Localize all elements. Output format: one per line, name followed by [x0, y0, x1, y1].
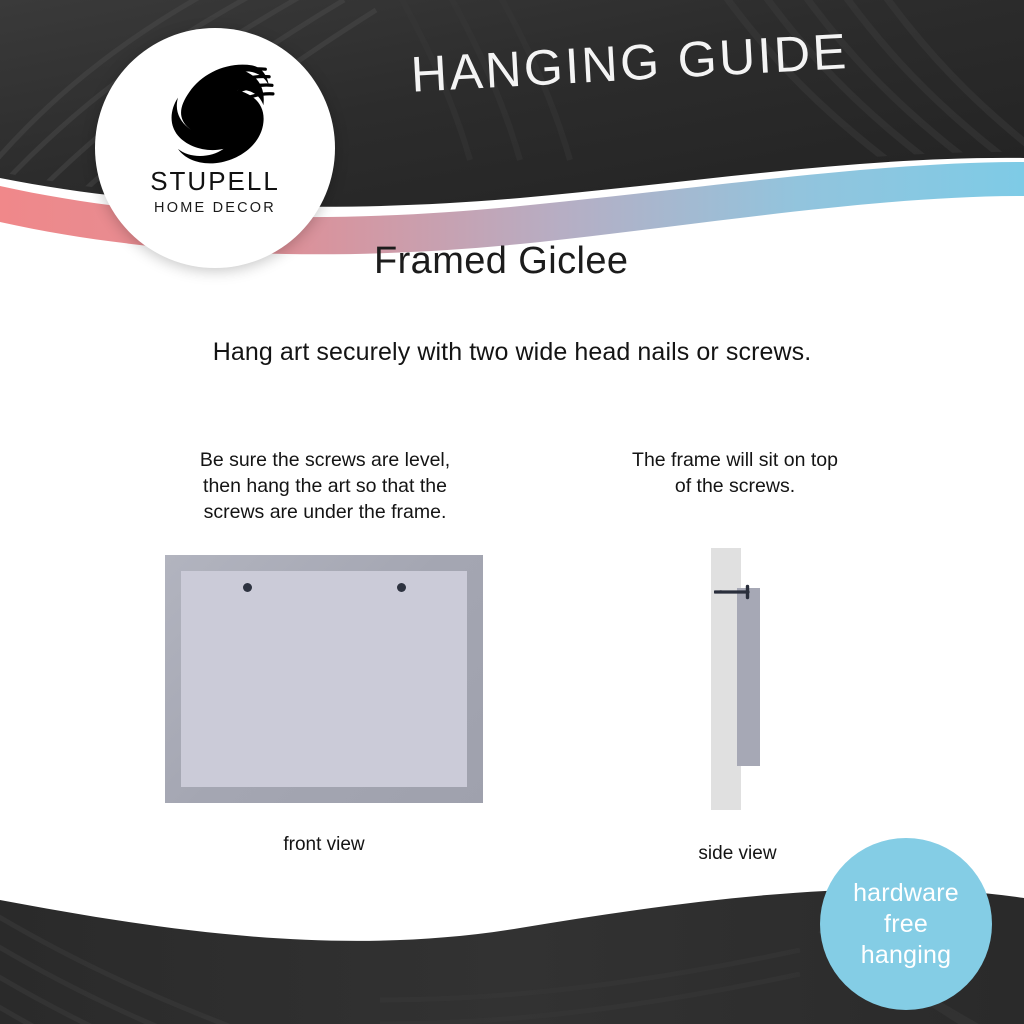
front-view-caption-line-1: Be sure the screws are level, [160, 447, 490, 473]
front-view-caption-line-2: then hang the art so that the [160, 473, 490, 499]
screw-dot-left [243, 583, 252, 592]
picture-frame-artwork-panel [181, 571, 467, 787]
main-instruction-text: Hang art securely with two wide head nai… [0, 338, 1024, 367]
badge-line-1: hardware [853, 878, 959, 909]
nail-icon [714, 584, 756, 600]
hardware-free-hanging-badge: hardware free hanging [820, 838, 992, 1010]
hanging-guide-page: STUPELL HOME DECOR HANGING GUIDE Framed … [0, 0, 1024, 1024]
front-view-caption-line-3: screws are under the frame. [160, 499, 490, 525]
badge-line-3: hanging [861, 940, 951, 971]
side-view-diagram [705, 548, 785, 816]
badge-line-2: free [884, 909, 928, 940]
product-type-heading: Framed Giclee [374, 240, 628, 283]
logo-brand-name: STUPELL [150, 168, 280, 194]
logo-brand-subtitle: HOME DECOR [154, 201, 276, 216]
front-view-diagram [165, 555, 483, 803]
side-view-caption-line-2: of the screws. [600, 473, 870, 499]
side-view-caption-line-1: The frame will sit on top [600, 447, 870, 473]
front-view-label: front view [185, 834, 463, 856]
swoosh-s-icon [153, 54, 277, 166]
page-title: HANGING GUIDE [368, 20, 890, 106]
side-view-caption: The frame will sit on top of the screws. [600, 447, 870, 499]
side-view-label: side view [645, 843, 830, 865]
screw-dot-right [397, 583, 406, 592]
frame-cross-section [737, 588, 760, 766]
brand-logo-badge: STUPELL HOME DECOR [95, 28, 335, 268]
front-view-caption: Be sure the screws are level, then hang … [160, 447, 490, 525]
